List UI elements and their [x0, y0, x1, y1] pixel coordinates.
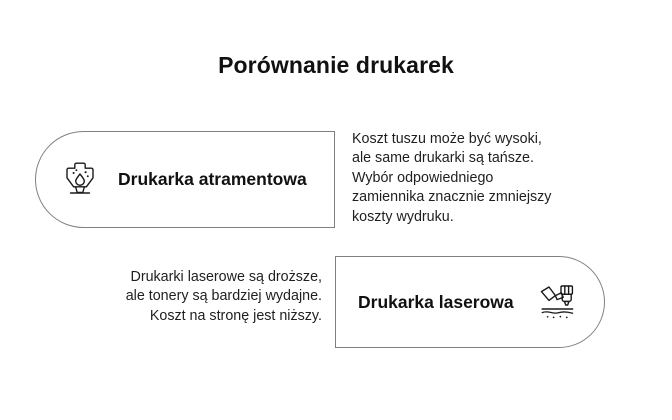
description-laser: Drukarki laserowe są droższe, ale tonery…: [20, 268, 322, 326]
card-inkjet-label: Drukarka atramentowa: [118, 169, 307, 190]
ink-cartridge-icon: [58, 158, 102, 202]
card-laser[interactable]: Drukarka laserowa: [335, 256, 605, 348]
card-laser-label: Drukarka laserowa: [358, 292, 514, 313]
description-inkjet: Koszt tuszu może być wysoki, ale same dr…: [352, 130, 652, 227]
laser-nozzle-icon: [534, 280, 578, 324]
page-title: Porównanie drukarek: [0, 52, 672, 79]
card-inkjet[interactable]: Drukarka atramentowa: [35, 131, 335, 228]
